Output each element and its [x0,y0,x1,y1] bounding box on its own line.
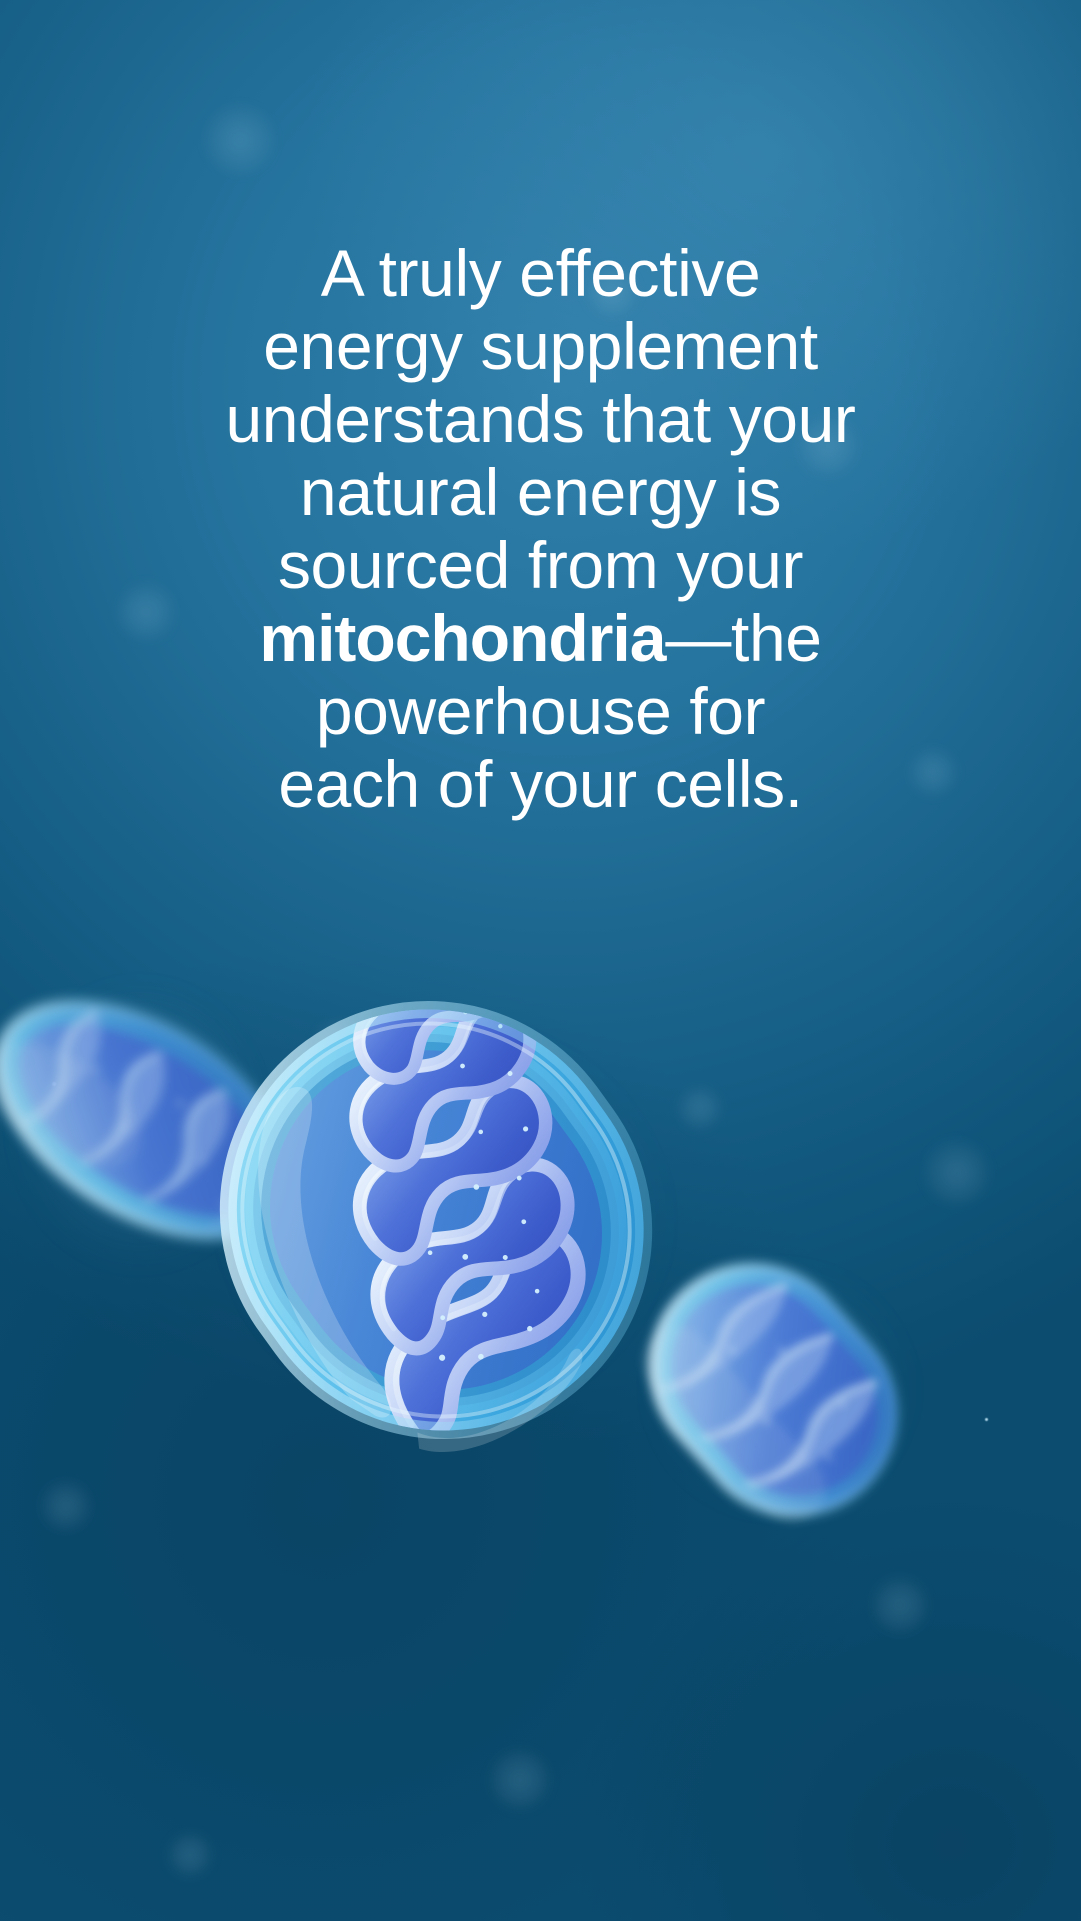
headline-line-8: each of your cells. [112,748,969,821]
headline-line-4: natural energy is [112,456,969,529]
bokeh-spot [167,1832,213,1878]
bokeh-spot [205,105,275,175]
headline-line-2: energy supplement [112,310,969,383]
headline-line-5: sourced from your [112,529,969,602]
mitochondrion-main [176,985,696,1455]
headline-line-7: powerhouse for [112,675,969,748]
bokeh-spot [924,1140,990,1206]
poster-canvas: A truly effective energy supplement unde… [0,0,1081,1921]
bokeh-spot [489,1749,551,1811]
headline-line-1: A truly effective [112,237,969,310]
headline-block: A truly effective energy supplement unde… [0,237,1081,821]
headline-line-3: understands that your [112,383,969,456]
headline-emphasis-word: mitochondria [259,601,665,675]
sparkle-dot [985,1418,988,1421]
headline-emphasis-suffix: —the [665,601,821,675]
bokeh-spot [41,1481,91,1531]
headline-line-6: mitochondria—the [112,602,969,675]
bokeh-spot [871,1576,929,1634]
